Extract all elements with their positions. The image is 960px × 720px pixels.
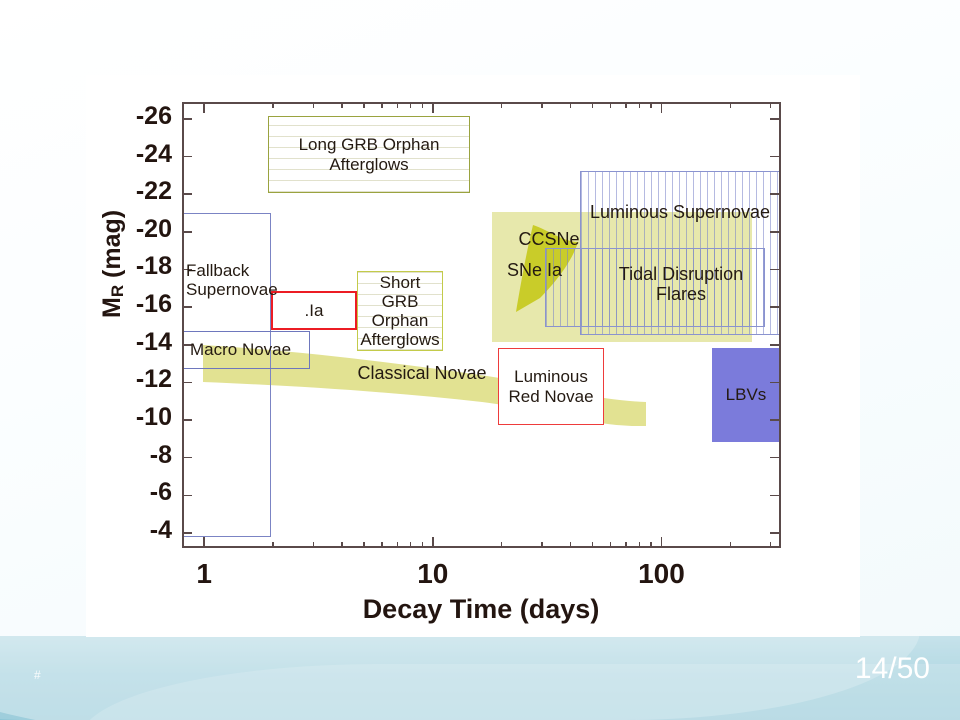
y-axis-title-subscript: R (108, 285, 127, 297)
x-tick-minor (381, 542, 382, 548)
y-tick-label: -22 (136, 177, 172, 206)
region-label-tidal-disruption-flares: Tidal Disruption Flares (598, 264, 764, 304)
x-axis-title: Decay Time (days) (182, 594, 780, 625)
y-tick-right (770, 156, 780, 158)
region-macro-novae: Macro Novae (182, 331, 310, 369)
presentation-slide: # 14/50 Luminous Supernovae Tidal Disrup… (0, 0, 960, 720)
y-tick-right (770, 118, 780, 120)
y-tick (182, 193, 192, 195)
x-tick-minor (570, 542, 571, 548)
region-label-luminous-supernovae: Luminous Supernovae (587, 202, 773, 222)
region-label-macro-novae: Macro Novae (187, 340, 294, 359)
y-tick-right (770, 382, 780, 384)
x-tick-top (661, 102, 663, 113)
x-tick-minor (341, 542, 342, 548)
region-label-short-grb-orphan-afterglows: Short GRB Orphan Afterglows (357, 273, 442, 349)
x-tick-label: 1 (196, 558, 212, 590)
y-tick-label: -8 (150, 441, 172, 470)
region-short-grb-orphan-afterglows: Short GRB Orphan Afterglows (357, 271, 443, 351)
x-tick-top-minor (770, 102, 771, 108)
y-tick-right (770, 532, 780, 534)
region-label-classical-novae-wrap: Classical Novae (332, 360, 512, 386)
y-tick-label: -6 (150, 478, 172, 507)
y-tick-label: -14 (136, 328, 172, 357)
x-tick-minor (639, 542, 640, 548)
y-axis-line (182, 102, 184, 548)
y-tick-right (770, 495, 780, 497)
y-tick-right (770, 457, 780, 459)
x-tick-minor (410, 542, 411, 548)
x-tick-minor (313, 542, 314, 548)
region-label-ccsne: CCSNe (515, 229, 582, 249)
x-tick-minor (650, 542, 651, 548)
y-tick-right (770, 231, 780, 233)
x-tick-minor (770, 542, 771, 548)
slide-page-number: 14/50 (855, 652, 930, 686)
x-tick-minor (730, 542, 731, 548)
x-tick-minor (625, 542, 626, 548)
x-tick-top-minor (422, 102, 423, 108)
y-axis-title: MR (mag) (98, 210, 128, 318)
x-tick (432, 537, 434, 548)
region-label-long-grb-orphan-afterglows: Long GRB Orphan Afterglows (269, 135, 469, 173)
region-long-grb-orphan-afterglows: Long GRB Orphan Afterglows (268, 116, 470, 193)
region-label-luminous-red-novae: Luminous Red Novae (499, 367, 603, 405)
y-tick-label: -16 (136, 290, 172, 319)
region-label-sne-ia-wrap: SNe Ia (504, 257, 590, 283)
y-tick (182, 306, 192, 308)
slide-footer-wave-decoration (0, 636, 960, 720)
region-label-dot-ia: .Ia (302, 301, 327, 320)
y-tick-label: -24 (136, 140, 172, 169)
x-tick-top-minor (650, 102, 651, 108)
x-tick-label: 10 (417, 558, 448, 590)
y-tick-label: -10 (136, 403, 172, 432)
y-tick-right (770, 193, 780, 195)
region-lbvs: LBVs (712, 348, 780, 442)
x-tick-minor (610, 542, 611, 548)
region-dot-ia: .Ia (271, 291, 357, 330)
x-tick-top-minor (501, 102, 502, 108)
x-tick-top-minor (397, 102, 398, 108)
chart-plot-area: Luminous Supernovae Tidal Disruption Fla… (182, 102, 780, 548)
figure-image: Luminous Supernovae Tidal Disruption Fla… (86, 75, 860, 637)
y-axis-title-unit: (mag) (98, 210, 126, 285)
y-tick (182, 231, 192, 233)
x-tick-minor (397, 542, 398, 548)
x-tick-minor (501, 542, 502, 548)
y-tick-right (770, 269, 780, 271)
x-tick-minor (541, 542, 542, 548)
y-tick-label: -12 (136, 365, 172, 394)
x-tick-top-minor (730, 102, 731, 108)
x-tick-top-minor (363, 102, 364, 108)
region-label-sne-ia: SNe Ia (504, 260, 565, 280)
y-tick (182, 532, 192, 534)
y-tick-label: -18 (136, 252, 172, 281)
y-axis-title-main: M (98, 297, 126, 318)
x-tick-top-minor (592, 102, 593, 108)
y-tick (182, 382, 192, 384)
x-tick-top-minor (410, 102, 411, 108)
right-axis-line (779, 102, 781, 548)
x-tick-top (203, 102, 205, 113)
x-tick-minor (422, 542, 423, 548)
y-tick (182, 419, 192, 421)
x-tick-top-minor (570, 102, 571, 108)
region-label-lbvs: LBVs (723, 385, 770, 404)
x-tick-top-minor (381, 102, 382, 108)
x-tick-top-minor (610, 102, 611, 108)
x-tick-top-minor (272, 102, 273, 108)
y-tick-right (770, 306, 780, 308)
x-tick-minor (592, 542, 593, 548)
y-tick (182, 495, 192, 497)
y-tick-label: -26 (136, 102, 172, 131)
y-tick (182, 118, 192, 120)
y-tick-label: -4 (150, 516, 172, 545)
y-tick-right (770, 344, 780, 346)
region-label-ccsne-wrap: CCSNe (504, 226, 594, 252)
x-tick-top-minor (541, 102, 542, 108)
y-tick-label: -20 (136, 215, 172, 244)
y-tick (182, 156, 192, 158)
slide-footer-marker: # (34, 668, 41, 682)
x-tick-top (432, 102, 434, 113)
region-label-fallback-supernovae: Fallback Supernovae (183, 262, 281, 299)
y-tick (182, 457, 192, 459)
x-tick-label: 100 (638, 558, 685, 590)
x-tick (661, 537, 663, 548)
x-tick-minor (363, 542, 364, 548)
region-label-classical-novae: Classical Novae (354, 363, 489, 383)
region-fallback-supernovae: Fallback Supernovae (182, 213, 271, 537)
x-tick-top-minor (639, 102, 640, 108)
y-tick-right (770, 419, 780, 421)
x-tick-top-minor (313, 102, 314, 108)
x-tick-top-minor (341, 102, 342, 108)
region-luminous-red-novae: Luminous Red Novae (498, 348, 604, 425)
x-tick-minor (272, 542, 273, 548)
x-tick (203, 537, 205, 548)
x-tick-top-minor (625, 102, 626, 108)
